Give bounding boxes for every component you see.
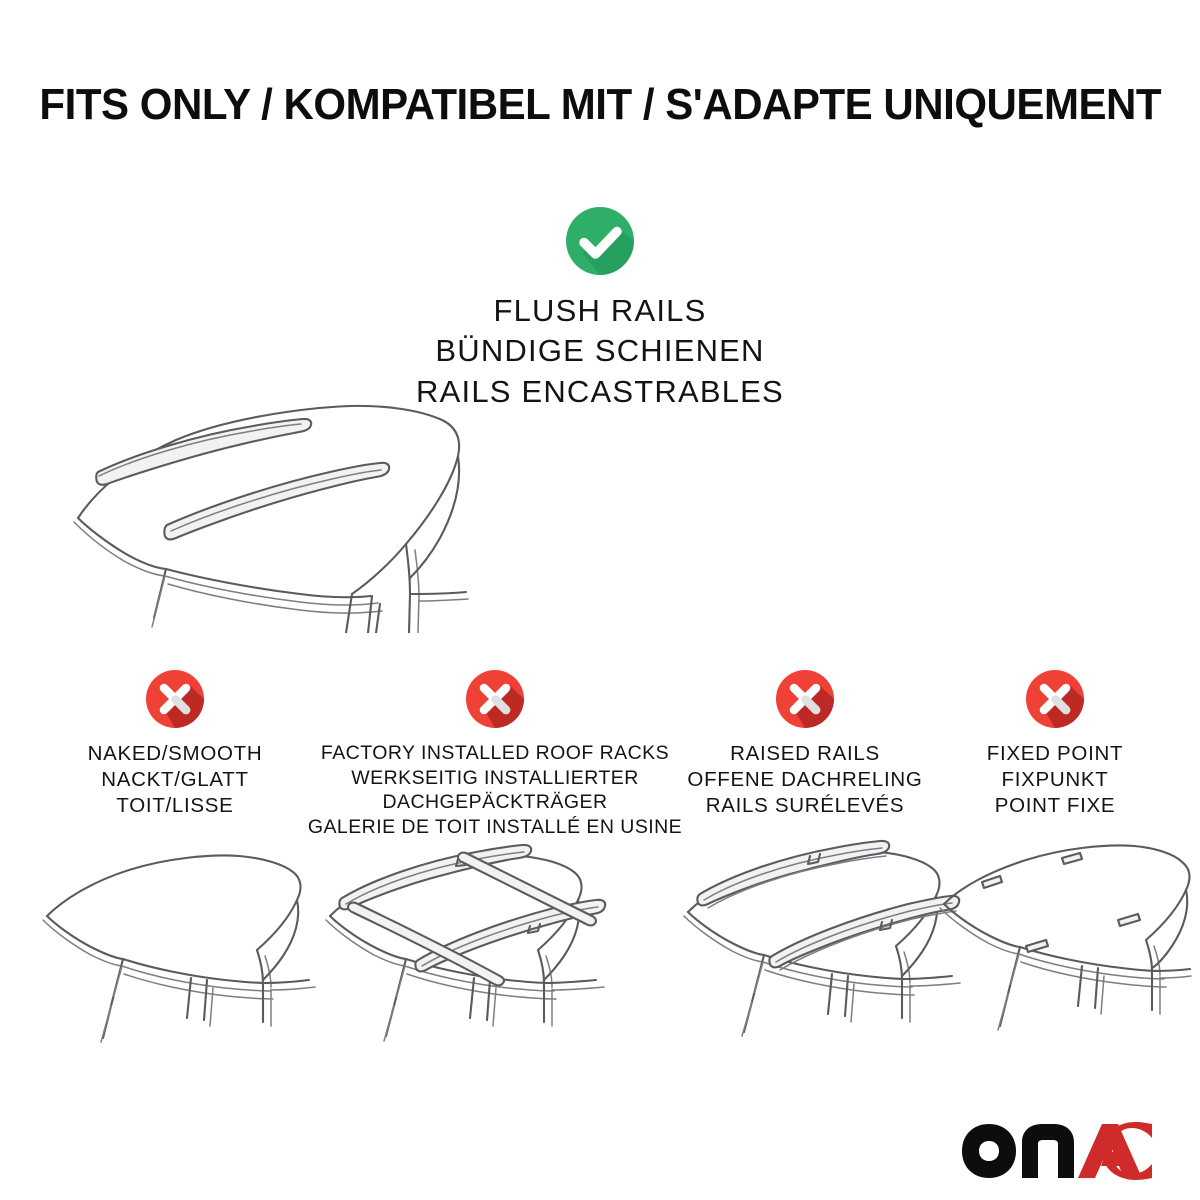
incompatible-item-factory-roof-racks: FACTORY INSTALLED ROOF RACKS WERKSEITIG … [300,668,690,839]
incompatible-caption-fixed-point: FIXED POINT FIXPUNKT POINT FIXE [930,741,1180,818]
incompatible-caption-factory-roof-racks: FACTORY INSTALLED ROOF RACKS WERKSEITIG … [300,741,690,839]
car-roof-with-fixed-points-illustration [930,838,1180,1038]
caption-line-en: FIXED POINT [930,741,1180,767]
cross-circle-icon [774,668,836,730]
caption-line-fr: TOIT/LISSE [25,793,325,819]
car-roof-naked-smooth-illustration [25,846,325,1046]
cross-circle-icon [1024,668,1086,730]
caption-line-fr: RAILS SURÉLEVÉS [660,793,950,819]
car-roof-with-raised-rails-illustration [660,836,950,1041]
omac-logo [960,1122,1152,1180]
page-title: FITS ONLY / KOMPATIBEL MIT / S'ADAPTE UN… [0,82,1200,128]
car-roof-with-flush-rails-illustration [0,398,1200,633]
incompatible-section: NAKED/SMOOTH NACKT/GLATT TOIT/LISSE [0,668,1200,1088]
incompatible-caption-raised-rails: RAISED RAILS OFFENE DACHRELING RAILS SUR… [660,741,950,818]
compatible-caption-line-en: FLUSH RAILS [0,291,1200,331]
caption-line-en: NAKED/SMOOTH [25,741,325,767]
incompatible-item-naked-smooth: NAKED/SMOOTH NACKT/GLATT TOIT/LISSE [25,668,325,818]
caption-line-en: RAISED RAILS [660,741,950,767]
incompatible-caption-naked-smooth: NAKED/SMOOTH NACKT/GLATT TOIT/LISSE [25,741,325,818]
compatible-caption-line-de: BÜNDIGE SCHIENEN [0,331,1200,371]
caption-line-en: FACTORY INSTALLED ROOF RACKS [300,741,690,766]
incompatible-item-fixed-point: FIXED POINT FIXPUNKT POINT FIXE [930,668,1180,818]
caption-line-de: OFFENE DACHRELING [660,767,950,793]
page-title-text: FITS ONLY / KOMPATIBEL MIT / S'ADAPTE UN… [39,82,1161,128]
car-roof-with-factory-roof-rack-crossbars-illustration [300,836,690,1046]
caption-line-de-1: WERKSEITIG INSTALLIERTER [300,766,690,791]
compatible-section: FLUSH RAILS BÜNDIGE SCHIENEN RAILS ENCAS… [0,205,1200,412]
caption-line-fr: POINT FIXE [930,793,1180,819]
incompatible-item-raised-rails: RAISED RAILS OFFENE DACHRELING RAILS SUR… [660,668,950,818]
caption-line-de-2: DACHGEPÄCKTRÄGER [300,790,690,815]
cross-circle-icon [464,668,526,730]
caption-line-de: FIXPUNKT [930,767,1180,793]
omac-logo-mark [960,1122,1152,1180]
compatible-caption: FLUSH RAILS BÜNDIGE SCHIENEN RAILS ENCAS… [0,291,1200,412]
caption-line-de: NACKT/GLATT [25,767,325,793]
check-circle-icon [564,205,636,277]
cross-circle-icon [144,668,206,730]
